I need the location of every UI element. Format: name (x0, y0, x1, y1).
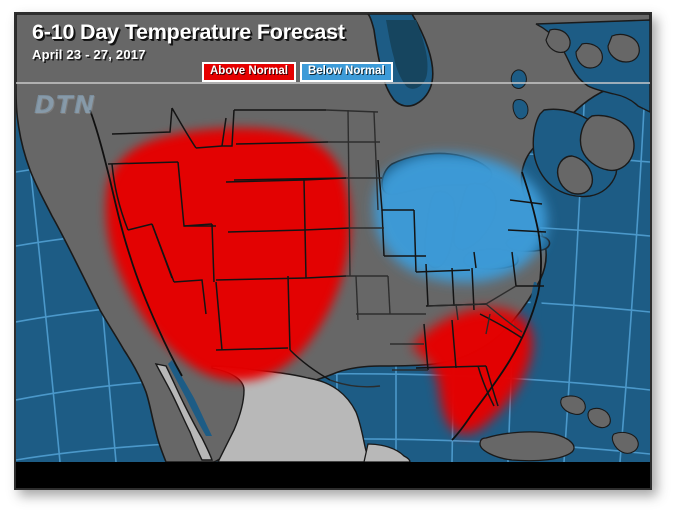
cuba-island (480, 432, 574, 461)
legend: Above Normal Below Normal (202, 62, 393, 82)
legend-above-normal[interactable]: Above Normal (202, 62, 296, 82)
map-frame: DTN 6-10 Day Temperature Forecast April … (14, 12, 652, 490)
map-bottom-bar (16, 462, 650, 488)
map-canvas[interactable]: DTN 6-10 Day Temperature Forecast April … (16, 14, 650, 462)
weather-map-page: DTN 6-10 Day Temperature Forecast April … (0, 0, 692, 532)
small-lake-quebec (511, 70, 526, 88)
legend-below-normal[interactable]: Below Normal (300, 62, 393, 82)
